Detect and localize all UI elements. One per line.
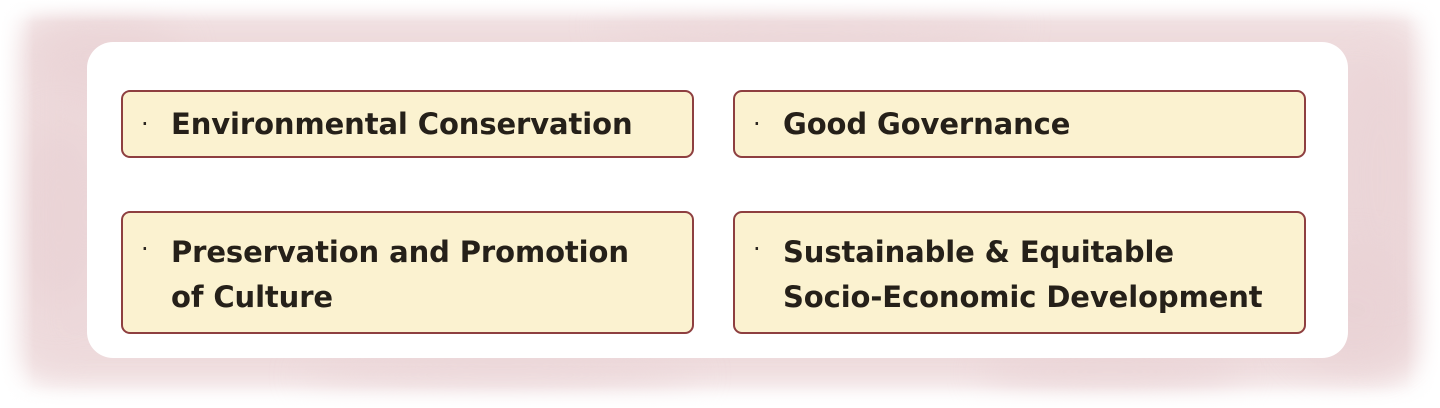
pillar-label: Preservation and Promotion of Culture	[171, 230, 678, 320]
pillar-item-sustainable-equitable-socio-economic-development[interactable]: · Sustainable & Equitable Socio-Economic…	[733, 211, 1306, 334]
pillar-label: Sustainable & Equitable Socio-Economic D…	[783, 230, 1290, 320]
content-card: · Environmental Conservation · Good Gove…	[87, 42, 1348, 358]
bullet-icon: ·	[751, 104, 777, 144]
brush-smudge-bottom-left	[300, 352, 700, 398]
pillars-graphic: · Environmental Conservation · Good Gove…	[0, 0, 1440, 408]
pillar-item-environmental-conservation[interactable]: · Environmental Conservation	[121, 90, 694, 158]
pillar-item-preservation-and-promotion-of-culture[interactable]: · Preservation and Promotion of Culture	[121, 211, 694, 334]
pillar-item-good-governance[interactable]: · Good Governance	[733, 90, 1306, 158]
pillars-grid: · Environmental Conservation · Good Gove…	[121, 90, 1306, 334]
bullet-icon: ·	[139, 230, 165, 268]
bullet-icon: ·	[139, 104, 165, 144]
pillar-label: Environmental Conservation	[171, 104, 678, 144]
pillar-label: Good Governance	[783, 104, 1290, 144]
bullet-icon: ·	[751, 230, 777, 268]
